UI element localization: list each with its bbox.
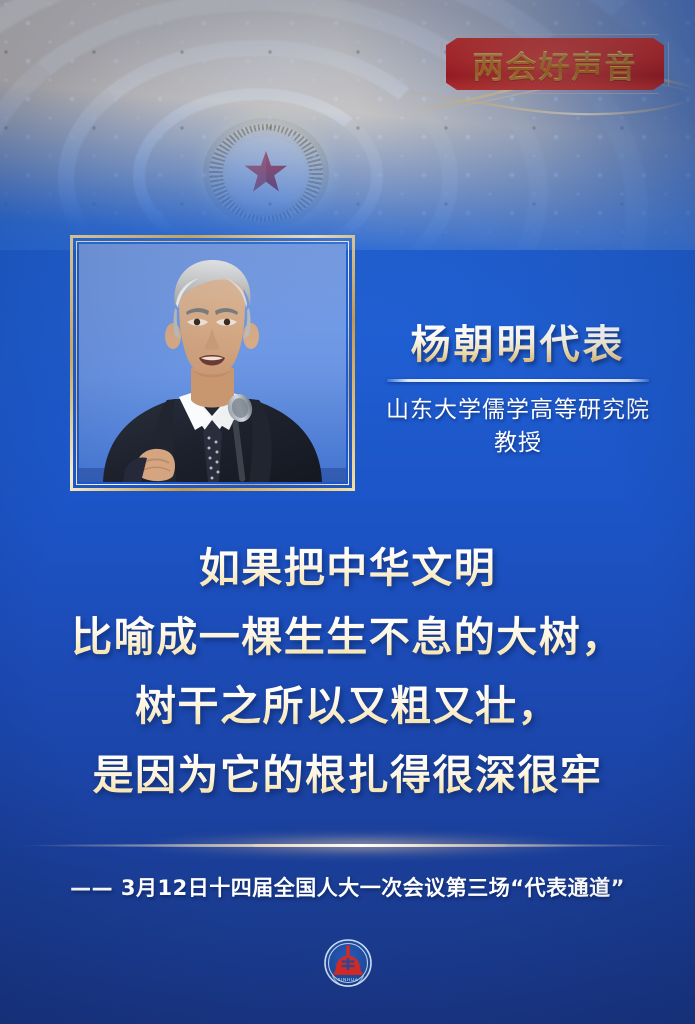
- speaker-title-line-2: 教授: [372, 427, 664, 460]
- speaker-info: 杨朝明代表 山东大学儒学高等研究院 教授: [372, 324, 664, 460]
- banner-label: 两会好声音: [446, 38, 664, 90]
- logo-wordmark: XINHUA: [337, 977, 358, 982]
- streak-core: [18, 844, 678, 847]
- quote-block: 如果把中华文明 比喻成一棵生生不息的大树， 树干之所以又粗又壮， 是因为它的根扎…: [0, 534, 695, 810]
- source-caption: —— 3月12日十四届全国人大一次会议第三场“代表通道”: [0, 872, 695, 902]
- speaker-title: 山东大学儒学高等研究院 教授: [372, 394, 664, 459]
- speaker-title-line-1: 山东大学儒学高等研究院: [372, 394, 664, 427]
- banner-liang-hui: 两会好声音: [446, 38, 664, 90]
- quote-line: 比喻成一棵生生不息的大树，: [0, 603, 695, 672]
- speaker-portrait: [70, 235, 355, 491]
- quote-line: 是因为它的根扎得很深很牢: [0, 741, 695, 810]
- speaker-name: 杨朝明代表: [372, 324, 664, 366]
- quote-line: 如果把中华文明: [0, 534, 695, 603]
- horizontal-light-streak: [0, 826, 695, 866]
- speaker-photo: [79, 244, 346, 482]
- poster-root: 两会好声音: [0, 0, 695, 1024]
- xinhua-logo: XINHUA: [323, 938, 373, 988]
- quote-line: 树干之所以又粗又壮，: [0, 672, 695, 741]
- name-divider: [387, 379, 649, 382]
